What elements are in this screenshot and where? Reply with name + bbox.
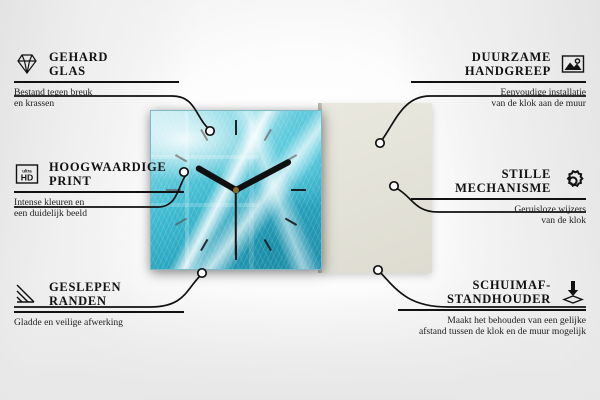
glass-reflection	[151, 111, 187, 157]
feature-title: HOOGWAARDIGE PRINT	[49, 160, 166, 188]
feature-desc: Eenvoudige installatie van de klok aan d…	[411, 87, 586, 110]
picture-frame-icon	[560, 51, 586, 77]
clock-tick	[291, 189, 306, 191]
feature-desc: Gladde en veilige afwerking	[14, 317, 184, 329]
feature-desc: Bestand tegen breuk en krassen	[14, 87, 179, 110]
infographic-canvas: GEHARD GLAS Bestand tegen breuk en krass…	[0, 0, 600, 400]
clock-hub	[233, 187, 239, 193]
feature-rule	[14, 81, 179, 83]
feature-title: SCHUIMAF- STANDHOUDER	[447, 278, 551, 306]
gear-icon	[560, 168, 586, 194]
feature-desc: Geruisloze wijzers van de klok	[411, 204, 586, 227]
feature-title: DUURZAME HANDGREEP	[465, 50, 551, 78]
diagonal-edges-icon	[14, 281, 40, 307]
feature-duurzame-handgreep: DUURZAME HANDGREEP Eenvoudige installati…	[411, 50, 586, 110]
feature-rule	[398, 309, 586, 311]
clock-tick	[235, 120, 237, 135]
diamond-icon	[14, 51, 40, 77]
glass-reflection	[151, 155, 259, 159]
feature-desc: Intense kleuren en een duidelijk beeld	[14, 197, 184, 220]
down-arrow-platform-icon	[560, 279, 586, 305]
feature-rule	[14, 311, 184, 313]
feature-title: GEHARD GLAS	[49, 50, 108, 78]
feature-stille-mechanisme: STILLE MECHANISME Geruisloze wijzers van…	[411, 167, 586, 227]
svg-text:HD: HD	[21, 173, 33, 183]
feature-desc: Maakt het behouden van een gelijke afsta…	[398, 315, 586, 338]
glass-reflection	[249, 111, 254, 269]
feature-title: STILLE MECHANISME	[455, 167, 551, 195]
feature-rule	[411, 81, 586, 83]
feature-hoogwaardige-print: ultra HD HOOGWAARDIGE PRINT Intense kleu…	[14, 160, 184, 220]
clock-second-hand	[235, 190, 237, 256]
feature-rule	[411, 198, 586, 200]
feature-schuimaf-standhouder: SCHUIMAF- STANDHOUDER Maakt het behouden…	[398, 278, 586, 338]
feature-gehard-glas: GEHARD GLAS Bestand tegen breuk en krass…	[14, 50, 179, 110]
feature-title: GESLEPEN RANDEN	[49, 280, 121, 308]
glass-reflection	[185, 111, 189, 269]
ultra-hd-icon: ultra HD	[14, 161, 40, 187]
feature-rule	[14, 191, 184, 193]
feature-geslepen-randen: GESLEPEN RANDEN Gladde en veilige afwerk…	[14, 280, 184, 328]
